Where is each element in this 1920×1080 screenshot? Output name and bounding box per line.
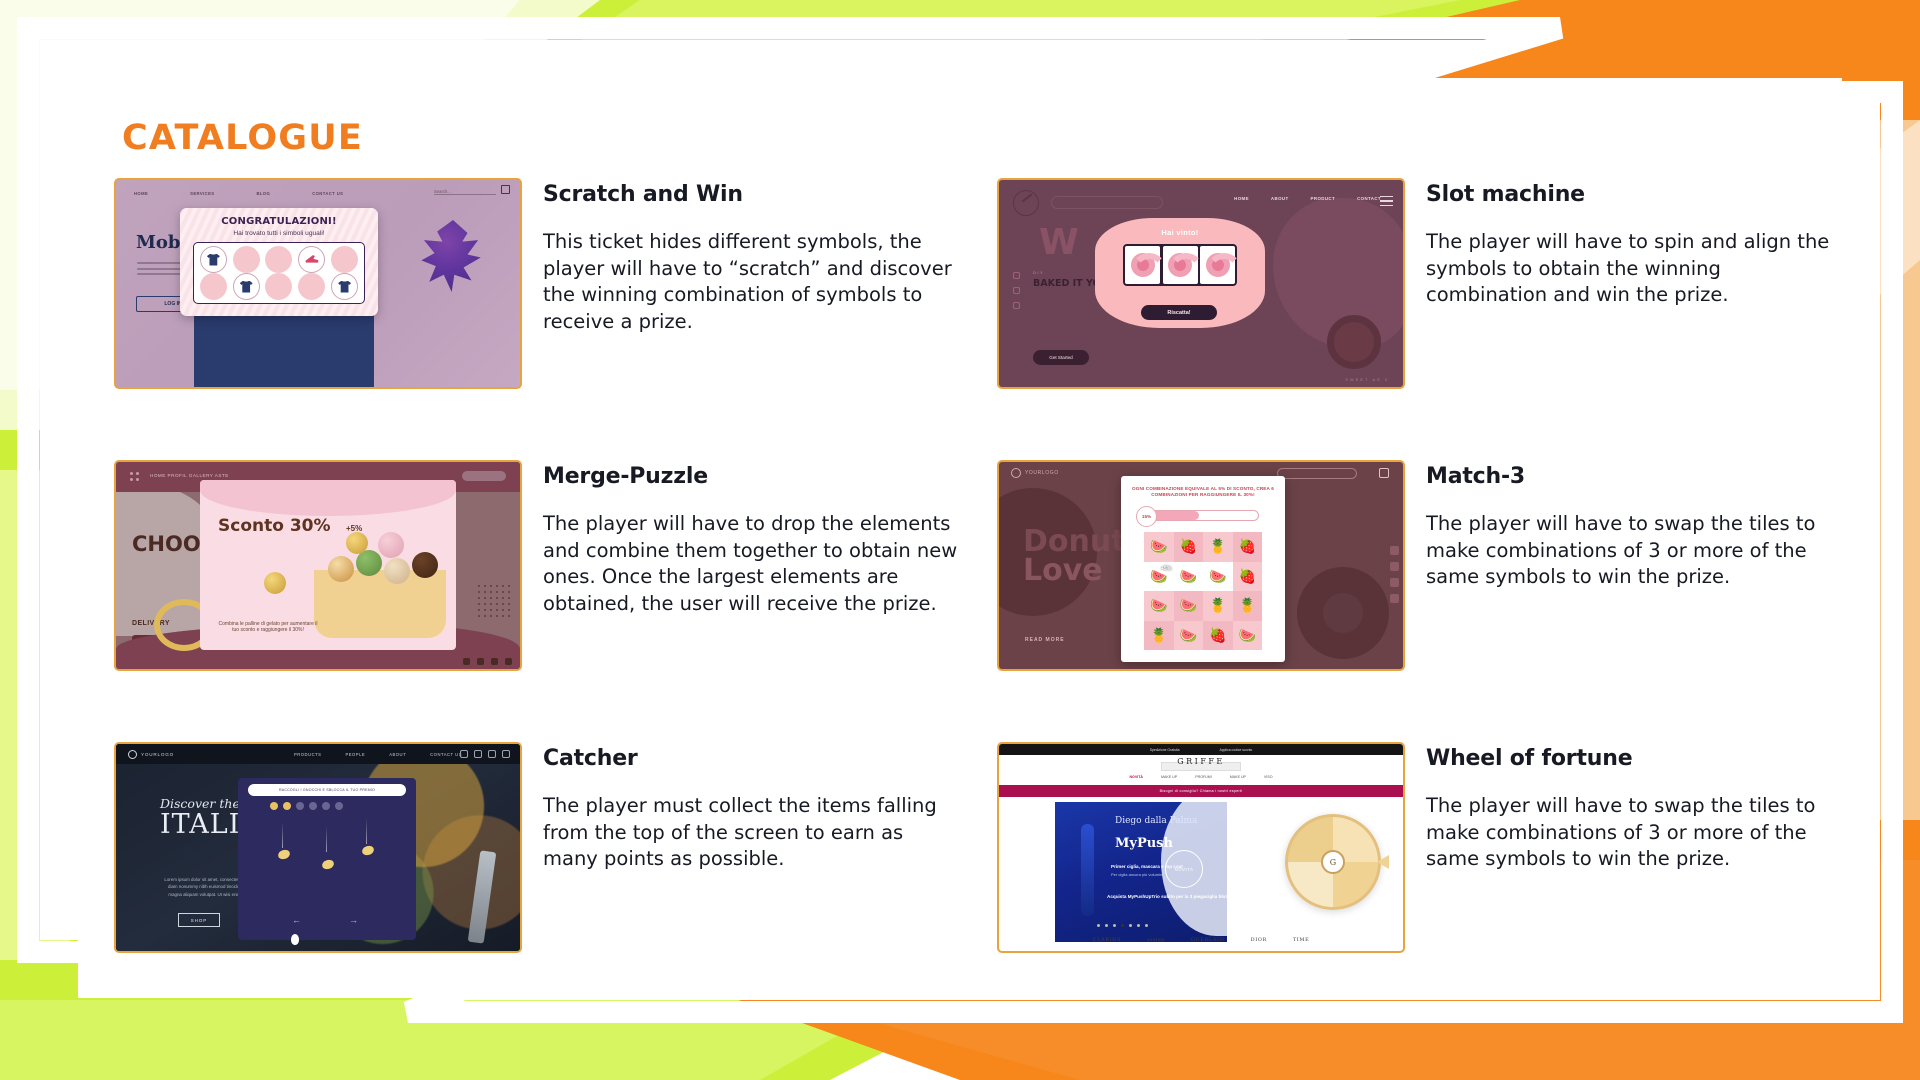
mascara-product: [1081, 824, 1094, 916]
card-description: The player will have to swap the tiles t…: [1426, 511, 1846, 591]
cursor-icon: [291, 934, 299, 945]
gnocchi-icon: [361, 844, 375, 856]
card-text-catcher: Catcher The player must collect the item…: [527, 742, 997, 972]
nav-contact: CONTACT US: [312, 191, 343, 196]
modal-subtitle: Hai trovato tutti i simboli uguali!: [180, 230, 378, 237]
shirt-icon: [338, 281, 351, 293]
nav-viso: VISO: [1264, 775, 1273, 779]
logo-time: TIME: [1293, 937, 1309, 943]
card-title: Slot machine: [1426, 182, 1880, 207]
site-logo: YOURLOGO: [1011, 468, 1059, 478]
score-dots: [270, 802, 343, 810]
game-banner: RACCOGLI I GNOCCHI E SBLOCCA IL TUO PREM…: [248, 784, 406, 796]
popup-title: Hai vinto!: [1095, 228, 1265, 237]
mini-nav: NOVITÀ MAKE UP PROFUMI MAKE UP VISO: [999, 775, 1403, 779]
progress-bar: 15%: [1147, 510, 1259, 521]
card-text-wheel-of-fortune: Wheel of fortune The player will have to…: [1410, 742, 1880, 972]
social-icons: [463, 658, 512, 665]
nav-product: PRODUCT: [1311, 196, 1336, 201]
card-title: Merge-Puzzle: [543, 464, 997, 489]
read-more-label: READ MORE: [1025, 637, 1065, 643]
card-description: The player will have to swap the tiles t…: [1426, 793, 1846, 873]
get-started-button: Get Started: [1033, 350, 1089, 365]
wheel-pointer-icon: [1377, 855, 1389, 869]
nav-about: ABOUT: [1271, 196, 1289, 201]
logo-dior: DIOR: [1251, 937, 1267, 943]
gnocchi-icon: [321, 858, 335, 870]
catalogue-grid: HOME SERVICES BLOG CONTACT US Search... …: [114, 178, 1814, 972]
scratch-ticket: [193, 242, 365, 304]
search-bar: [1051, 196, 1163, 209]
search-pill: [462, 471, 506, 481]
nav-home: HOME: [1234, 196, 1249, 201]
nav-about: ABOUT: [389, 752, 406, 757]
card-description: This ticket hides different symbols, the…: [543, 229, 963, 335]
card-description: The player will have to spin and align t…: [1426, 229, 1846, 309]
search-pill: [1277, 468, 1357, 479]
kicker: DIY: [1033, 270, 1044, 275]
nav-contact: CONTACT US: [430, 752, 462, 757]
hero-brand: Diego dalla Palma: [1115, 816, 1197, 826]
promo-code: Applica codice sconto: [1219, 748, 1252, 752]
mini-nav: HOME PROFIL GALLERY ASTE: [150, 473, 229, 478]
card-text-match-3: Match-3 The player will have to swap the…: [1410, 460, 1880, 690]
card-description: The player will have to drop the element…: [543, 511, 963, 617]
donut-icon: [1168, 253, 1192, 277]
search-field: Search...: [434, 189, 496, 195]
bonus-badge: +5%: [1161, 566, 1171, 572]
hero-line2: Per ciglia ancora più voluminose: [1111, 872, 1169, 877]
claim-button: Riscatta!: [1141, 305, 1217, 320]
knife-graphic: [468, 850, 497, 943]
advice-banner: Bisogni di consiglio? Chiama i nostri es…: [999, 785, 1403, 797]
nav-makeup: MAKE UP: [1161, 775, 1177, 779]
leaf-decoration-icon: [420, 220, 486, 292]
hero-product: MyPush: [1115, 836, 1173, 851]
nav-products: PRODUCTS: [294, 752, 322, 757]
mini-nav: YOURLOGO PRODUCTS PEOPLE ABOUT CONTACT U…: [116, 744, 520, 764]
thumbnail-wheel-of-fortune[interactable]: Spedizione Gratuita Applica codice scont…: [997, 742, 1405, 953]
carousel-dots: [1097, 924, 1148, 927]
card-title: Match-3: [1426, 464, 1880, 489]
fortune-wheel: G: [1285, 814, 1381, 910]
card-text-slot-machine: Slot machine The player will have to spi…: [1410, 178, 1880, 408]
merge-caption: Combina le palline di gelato per aumenta…: [216, 621, 320, 634]
dot-grid-decoration: [476, 583, 510, 617]
social-rail: [1390, 546, 1399, 603]
card-description: The player must collect the items fallin…: [543, 793, 963, 873]
cart-icon: [501, 185, 510, 194]
merge-popup: Sconto 30% +5% Combina le palline di gel…: [200, 480, 456, 650]
wheel-hub: G: [1321, 850, 1345, 874]
shirt-icon: [207, 254, 220, 266]
card-title: Catcher: [543, 746, 997, 771]
logo-guerlain: GUERLAIN: [1191, 937, 1225, 943]
nav-blog: BLOG: [256, 191, 270, 196]
nav-novita: NOVITÀ: [1129, 775, 1143, 779]
mini-nav: HOME ABOUT PRODUCT CONTACT: [1234, 196, 1381, 201]
slot-popup: Hai vinto! Riscatta!: [1095, 218, 1265, 328]
page-title: CATALOGUE: [122, 118, 363, 158]
bakery-logo-icon: [1013, 190, 1039, 216]
match3-board: 🍉🍓🍍🍓 🍉🍉🍉🍓 🍉🍉🍍🍍 🍍🍉🍓🍉: [1144, 532, 1262, 650]
slide-content-card: CATALOGUE HOME SERVICES BLOG CONTACT US …: [78, 78, 1842, 998]
promo-topbar: Spedizione Gratuita Applica codice scont…: [999, 744, 1403, 755]
card-title: Scratch and Win: [543, 182, 997, 207]
nav-makeup2: MAKE UP: [1230, 775, 1246, 779]
catcher-game-panel: RACCOGLI I GNOCCHI E SBLOCCA IL TUO PREM…: [238, 778, 416, 940]
slot-reels: [1123, 244, 1237, 286]
thumbnail-match-3[interactable]: YOURLOGO DonutsLove READ MORE OGNI COMBI…: [997, 460, 1405, 671]
nav-people: PEOPLE: [345, 752, 365, 757]
thumbnail-slot-machine[interactable]: HOME ABOUT PRODUCT CONTACT W E DIY BAKED…: [997, 178, 1405, 389]
gnocchi-icon: [277, 848, 291, 860]
hero-banner: Diego dalla Palma MyPush Primer ciglia, …: [1055, 802, 1227, 942]
match3-panel: OGNI COMBINAZIONE EQUIVALE AL 5% DI SCON…: [1121, 476, 1285, 662]
donut-icon: [1206, 253, 1230, 277]
card-text-scratch-and-win: Scratch and Win This ticket hides differ…: [527, 178, 997, 408]
hero-cta: Acquista MyPushUpTrio subito per la 3 pi…: [1097, 894, 1227, 900]
novita-badge: NOVITÀ: [1165, 850, 1203, 888]
heel-icon: [305, 254, 319, 265]
brand-logos: CLARINS sisley GUERLAIN DIOR TIME: [999, 937, 1403, 943]
nav-services: SERVICES: [190, 191, 214, 196]
promo-shipping: Spedizione Gratuita: [1150, 748, 1180, 752]
grid-dots-icon: [130, 472, 139, 481]
site-logo: YOURLOGO: [128, 750, 174, 759]
progress-value: 15%: [1136, 506, 1157, 527]
shop-button: SHOP: [178, 913, 220, 927]
hamburger-icon: [1380, 196, 1393, 209]
logo-sisley: sisley: [1147, 937, 1165, 943]
logo-clarins: CLARINS: [1093, 937, 1122, 943]
donut-character: [1327, 315, 1381, 369]
nav-contact: CONTACT: [1357, 196, 1381, 201]
panel-text: OGNI COMBINAZIONE EQUIVALE AL 5% DI SCON…: [1130, 486, 1276, 499]
catcher-paddle: ←→: [292, 914, 358, 926]
nav-profumi: PROFUMI: [1195, 775, 1212, 779]
social-icons: [1013, 272, 1020, 317]
scratch-modal: CONGRATULAZIONI! Hai trovato tutti i sim…: [180, 208, 378, 316]
card-title: Wheel of fortune: [1426, 746, 1880, 771]
donut-graphic: [1297, 567, 1389, 659]
discount-label: Sconto 30%: [218, 518, 331, 535]
card-text-merge-puzzle: Merge-Puzzle The player will have to dro…: [527, 460, 997, 690]
donut-icon: [1131, 253, 1155, 277]
shirt-icon: [240, 281, 253, 293]
thumbnail-scratch-and-win[interactable]: HOME SERVICES BLOG CONTACT US Search... …: [114, 178, 522, 389]
site-brand: GRIFFE: [1177, 757, 1225, 766]
thumbnail-catcher[interactable]: YOURLOGO PRODUCTS PEOPLE ABOUT CONTACT U…: [114, 742, 522, 953]
footer-text: SWEET AS 2: [1345, 377, 1389, 382]
nav-home: HOME: [134, 191, 148, 196]
modal-title: CONGRATULAZIONI!: [180, 216, 378, 227]
thumbnail-merge-puzzle[interactable]: HOME PROFIL GALLERY ASTE CHOOSE YOUR PLA…: [114, 460, 522, 671]
social-icons: [460, 750, 510, 758]
cart-icon: [1379, 468, 1389, 478]
